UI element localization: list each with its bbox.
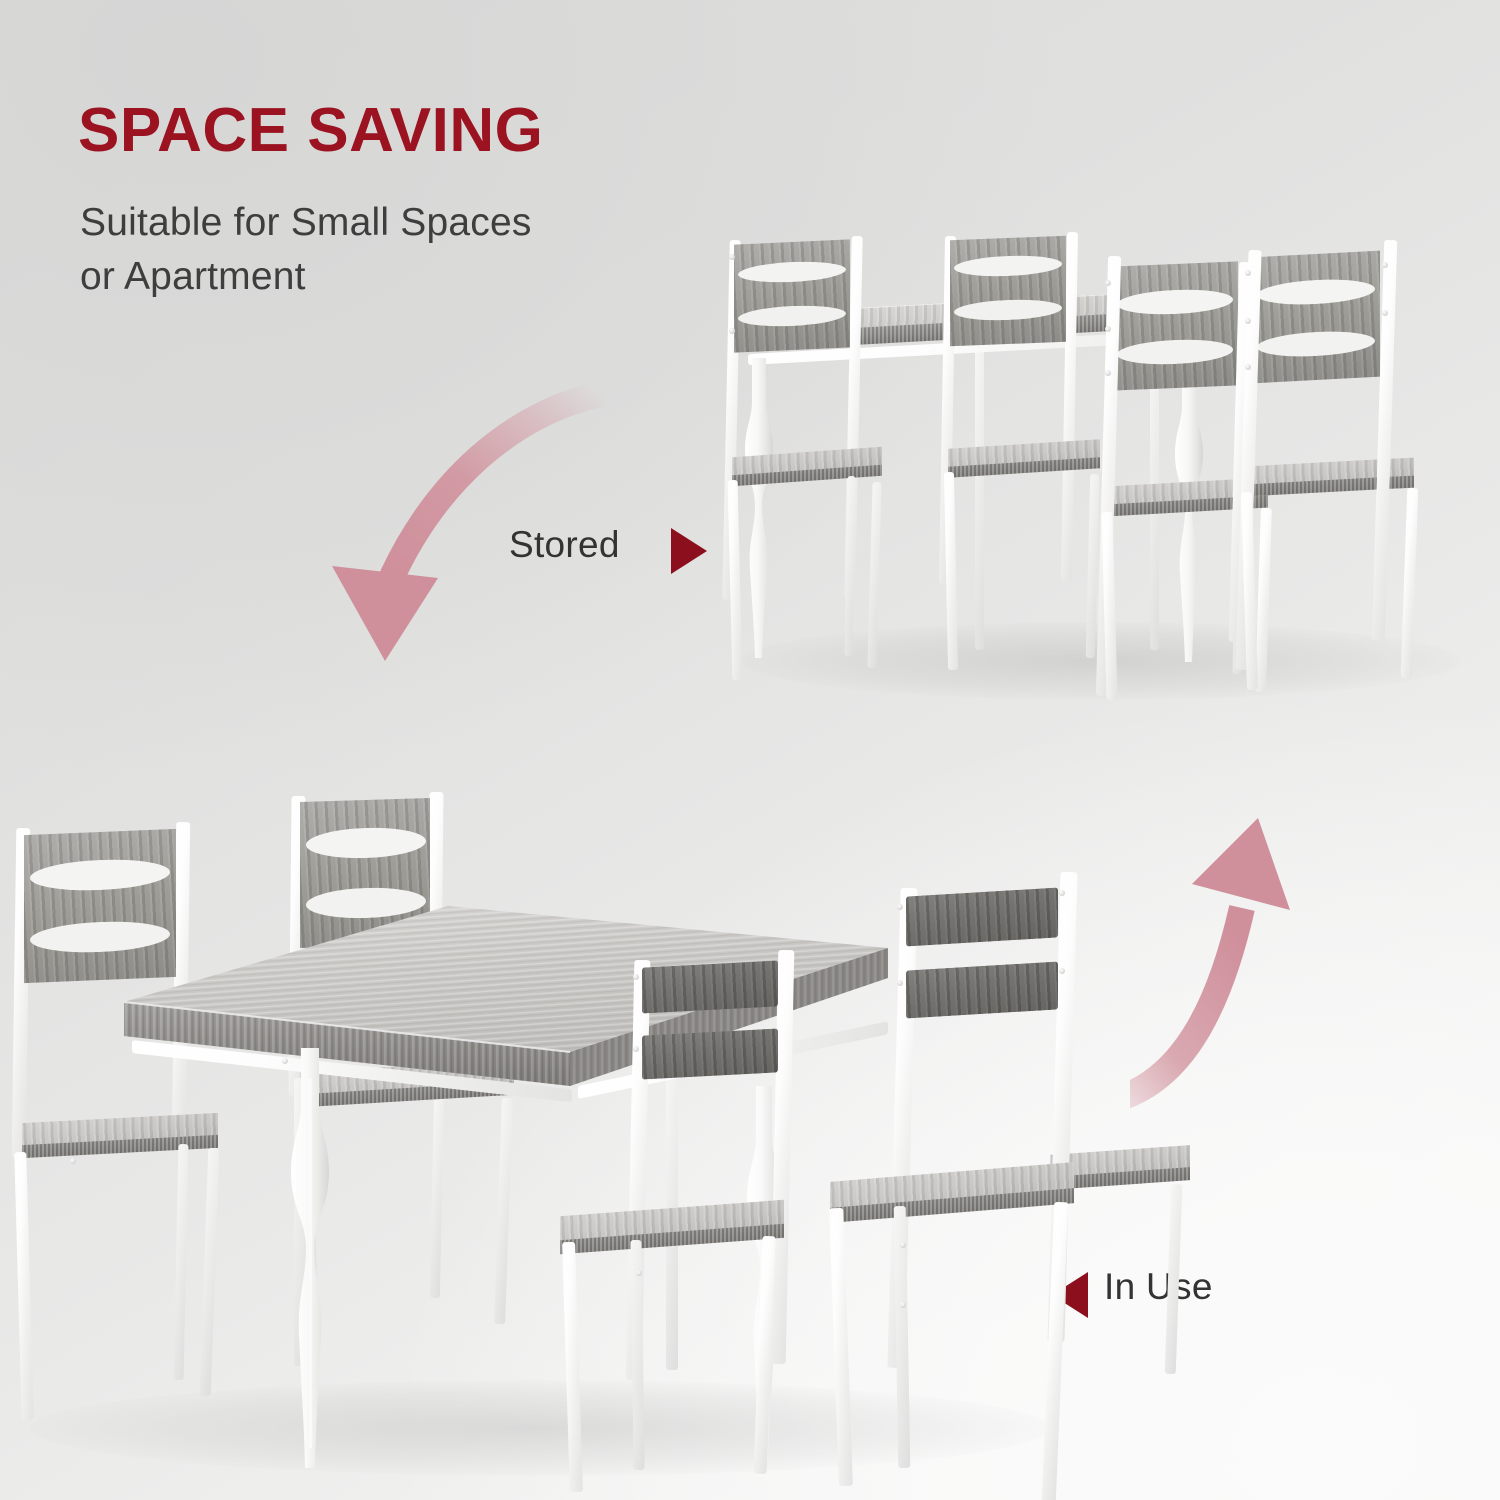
- chair-leg-front-right: [1165, 1184, 1183, 1374]
- chair-leg-front-right: [867, 482, 881, 668]
- table-leg-front-left: [288, 1048, 332, 1468]
- rivet-icon: [633, 1046, 639, 1052]
- rivet-icon: [633, 974, 639, 980]
- chair-leg-front-left: [14, 1152, 33, 1420]
- rivet-icon: [636, 1270, 642, 1276]
- chair-leg-front-right: [1042, 1202, 1069, 1500]
- rivet-icon: [1245, 270, 1251, 276]
- chair-back-slat-top: [906, 887, 1058, 946]
- chair-leg-front-left: [728, 480, 743, 680]
- chair-leg-front-left: [829, 1208, 853, 1486]
- chair-back-panel: [1252, 251, 1380, 384]
- rivet-icon: [897, 980, 903, 986]
- rivet-icon: [729, 254, 735, 260]
- chair-back-post-right: [770, 950, 795, 1364]
- chair-back-cutout-1: [1257, 277, 1375, 307]
- chair-leg-front-left: [562, 1242, 583, 1492]
- subtitle-line-1: Suitable for Small Spaces: [80, 196, 532, 250]
- chair-back-cutout-2: [738, 304, 846, 329]
- rivet-icon: [897, 904, 903, 910]
- chair-back-cutout-1: [30, 857, 170, 893]
- in-use-dining-set: [0, 780, 1140, 1470]
- rivet-icon: [900, 1242, 906, 1248]
- rivet-icon: [1059, 968, 1065, 974]
- rivet-icon: [1059, 890, 1065, 896]
- chair-back-panel: [734, 239, 850, 352]
- chair-leg-front-right: [1401, 488, 1419, 678]
- chair-leg-rear-right: [844, 476, 855, 656]
- chair-back-slat-bottom: [906, 961, 1058, 1018]
- chair-back-cutout-2: [1257, 329, 1375, 359]
- rivet-icon: [900, 1302, 906, 1308]
- rivet-icon: [1382, 310, 1388, 316]
- chair-back-cutout-1: [306, 826, 426, 860]
- page-title: SPACE SAVING: [78, 98, 543, 163]
- rivet-icon: [1382, 262, 1388, 268]
- rivet-icon: [282, 1058, 288, 1064]
- chair-back-panel: [950, 236, 1066, 346]
- infographic-canvas: SPACE SAVING Suitable for Small Spaces o…: [0, 0, 1500, 1500]
- callout-label-stored: Stored: [509, 524, 620, 566]
- page-subtitle: Suitable for Small Spaces or Apartment: [80, 196, 532, 304]
- chair-back-cutout-2: [954, 298, 1062, 322]
- rivet-icon: [70, 1158, 76, 1164]
- chair-back-cutout-1: [1117, 288, 1233, 317]
- chair-back-slat-bottom: [642, 1028, 778, 1079]
- stored-chair-1: [720, 236, 900, 696]
- chair-back-slat-top: [642, 960, 778, 1013]
- rivet-icon: [1105, 370, 1111, 376]
- in-use-chair-front-right: [830, 872, 1130, 1500]
- rivet-icon: [1105, 326, 1111, 332]
- rivet-icon: [1245, 318, 1251, 324]
- chair-back-panel: [1112, 261, 1238, 390]
- stored-chair-2: [938, 230, 1118, 690]
- chair-back-cutout-1: [954, 254, 1062, 278]
- in-use-chair-front-center: [560, 950, 820, 1500]
- chair-leg-front-left: [944, 472, 958, 670]
- rivet-icon: [1245, 364, 1251, 370]
- rivet-icon: [1105, 280, 1111, 286]
- stored-dining-set: [720, 230, 1480, 700]
- rivet-icon: [729, 328, 735, 334]
- triangle-right-icon: [671, 528, 707, 574]
- chair-back-cutout-2: [1117, 338, 1233, 367]
- chair-back-cutout-1: [738, 260, 846, 285]
- subtitle-line-2: or Apartment: [80, 250, 532, 304]
